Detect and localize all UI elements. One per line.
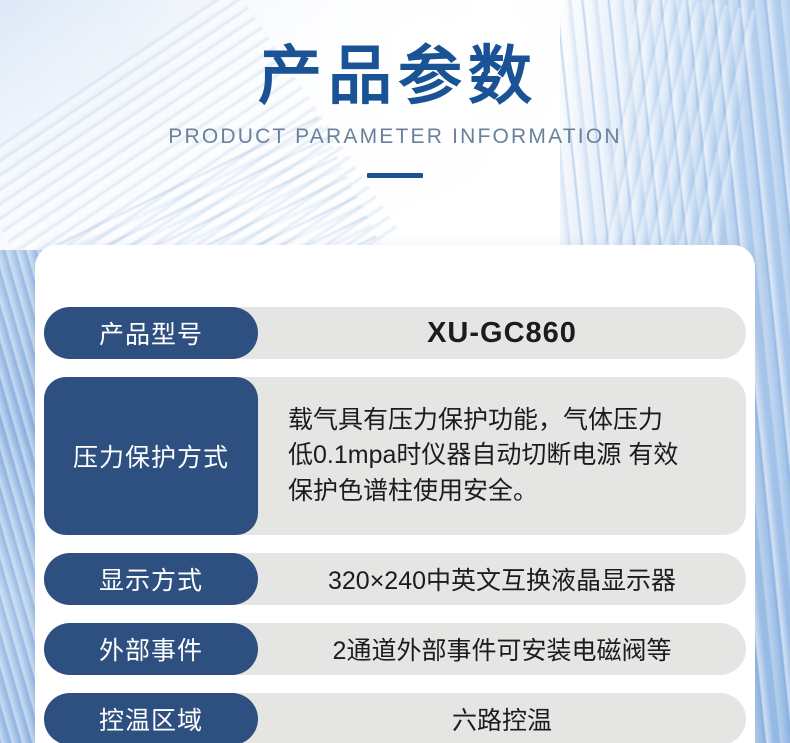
spec-value-external-events: 2通道外部事件可安装电磁阀等: [258, 623, 746, 675]
spec-label-product-model: 产品型号: [44, 307, 258, 359]
spec-label-temperature-zones: 控温区域: [44, 693, 258, 743]
spec-value-display-mode: 320×240中英文互换液晶显示器: [258, 553, 746, 605]
spec-row-temperature-zones: 控温区域 六路控温: [44, 693, 746, 743]
spec-row-external-events: 外部事件 2通道外部事件可安装电磁阀等: [44, 623, 746, 675]
product-parameter-page: 产品参数 PRODUCT PARAMETER INFORMATION 产品型号 …: [0, 0, 790, 743]
spec-row-pressure-protection: 压力保护方式 载气具有压力保护功能，气体压力 低0.1mpa时仪器自动切断电源 …: [44, 377, 746, 535]
spec-value-temperature-zones: 六路控温: [258, 693, 746, 743]
spec-label-display-mode: 显示方式: [44, 553, 258, 605]
title-underline-divider: [367, 173, 423, 178]
spec-label-pressure-protection: 压力保护方式: [44, 377, 258, 535]
page-title: 产品参数: [0, 44, 790, 111]
spec-row-product-model: 产品型号 XU-GC860: [44, 307, 746, 359]
spec-row-display-mode: 显示方式 320×240中英文互换液晶显示器: [44, 553, 746, 605]
spec-value-pressure-protection: 载气具有压力保护功能，气体压力 低0.1mpa时仪器自动切断电源 有效 保护色谱…: [258, 377, 746, 535]
spec-card: 产品型号 XU-GC860 压力保护方式 载气具有压力保护功能，气体压力 低0.…: [35, 245, 755, 743]
page-header: 产品参数 PRODUCT PARAMETER INFORMATION: [0, 0, 790, 178]
spec-table: 产品型号 XU-GC860 压力保护方式 载气具有压力保护功能，气体压力 低0.…: [44, 307, 746, 743]
page-subtitle: PRODUCT PARAMETER INFORMATION: [0, 125, 790, 149]
spec-value-product-model: XU-GC860: [258, 307, 746, 359]
spec-label-external-events: 外部事件: [44, 623, 258, 675]
